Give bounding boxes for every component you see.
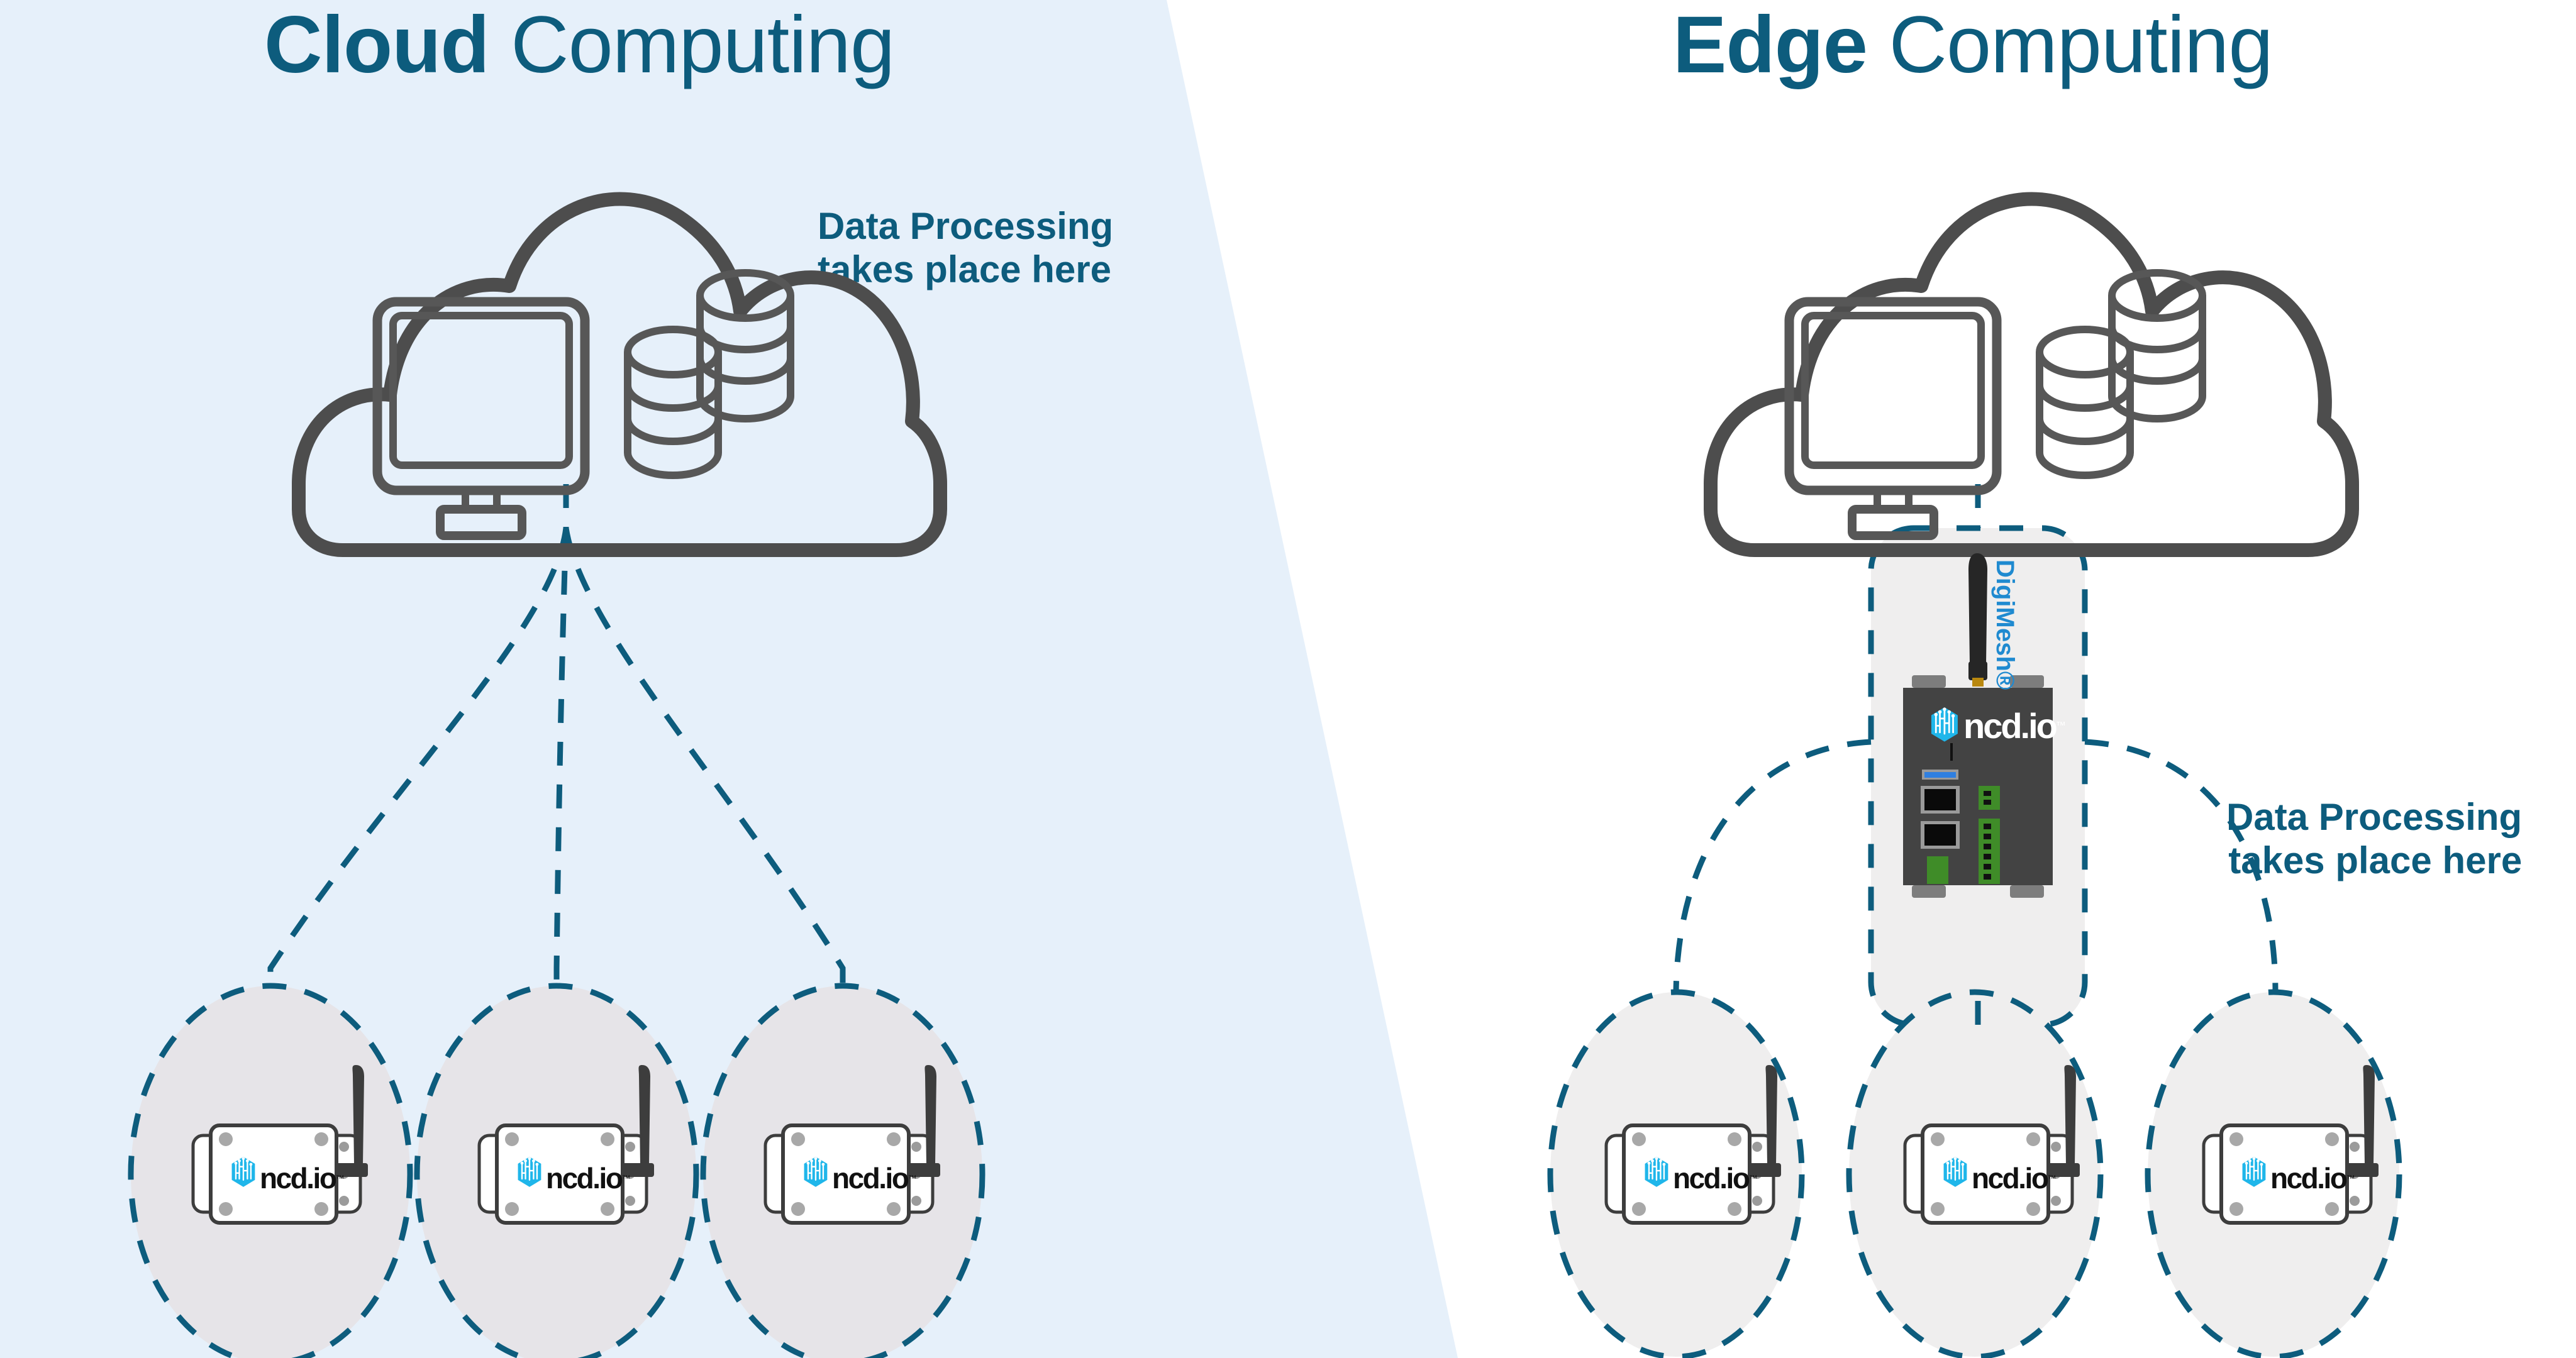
background-split <box>0 0 2576 1358</box>
callout-left: Data Processing takes place here <box>818 204 1113 291</box>
page-title-edge: Edge Computing <box>1673 5 2273 86</box>
title-cloud-bold: Cloud <box>264 0 489 90</box>
title-cloud-rest: Computing <box>489 0 895 90</box>
title-edge-rest: Computing <box>1867 0 2273 90</box>
diagram-canvas: Cloud Computing Edge Computing Data Proc… <box>0 0 2576 1358</box>
title-edge-bold: Edge <box>1673 0 1867 90</box>
callout-left-line2: takes place here <box>818 248 1113 291</box>
callout-right-line2: takes place here <box>2226 839 2522 882</box>
callout-right-line1: Data Processing <box>2226 795 2522 839</box>
page-title-cloud: Cloud Computing <box>264 5 894 86</box>
callout-left-line1: Data Processing <box>818 204 1113 248</box>
callout-right: Data Processing takes place here <box>2226 795 2522 882</box>
